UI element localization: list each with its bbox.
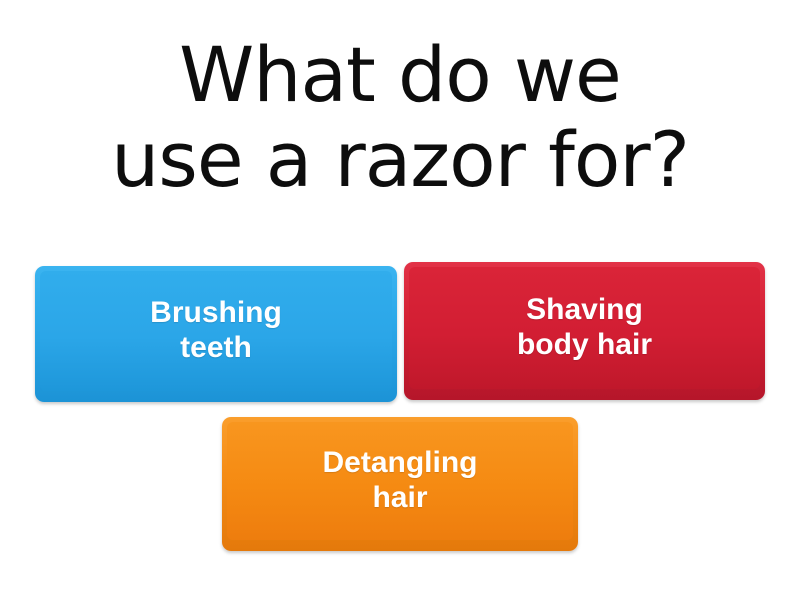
answer-option-label: Shaving body hair: [409, 267, 760, 389]
answer-option-brushing-teeth[interactable]: Brushing teeth: [35, 266, 397, 402]
answer-option-label: Brushing teeth: [40, 271, 392, 391]
quiz-slide: What do we use a razor for? Brushing tee…: [0, 0, 800, 600]
answer-option-detangling-hair[interactable]: Detangling hair: [222, 417, 578, 551]
answer-option-label: Detangling hair: [227, 422, 573, 540]
page-title: What do we use a razor for?: [0, 32, 800, 202]
answer-option-shaving-body-hair[interactable]: Shaving body hair: [404, 262, 765, 400]
